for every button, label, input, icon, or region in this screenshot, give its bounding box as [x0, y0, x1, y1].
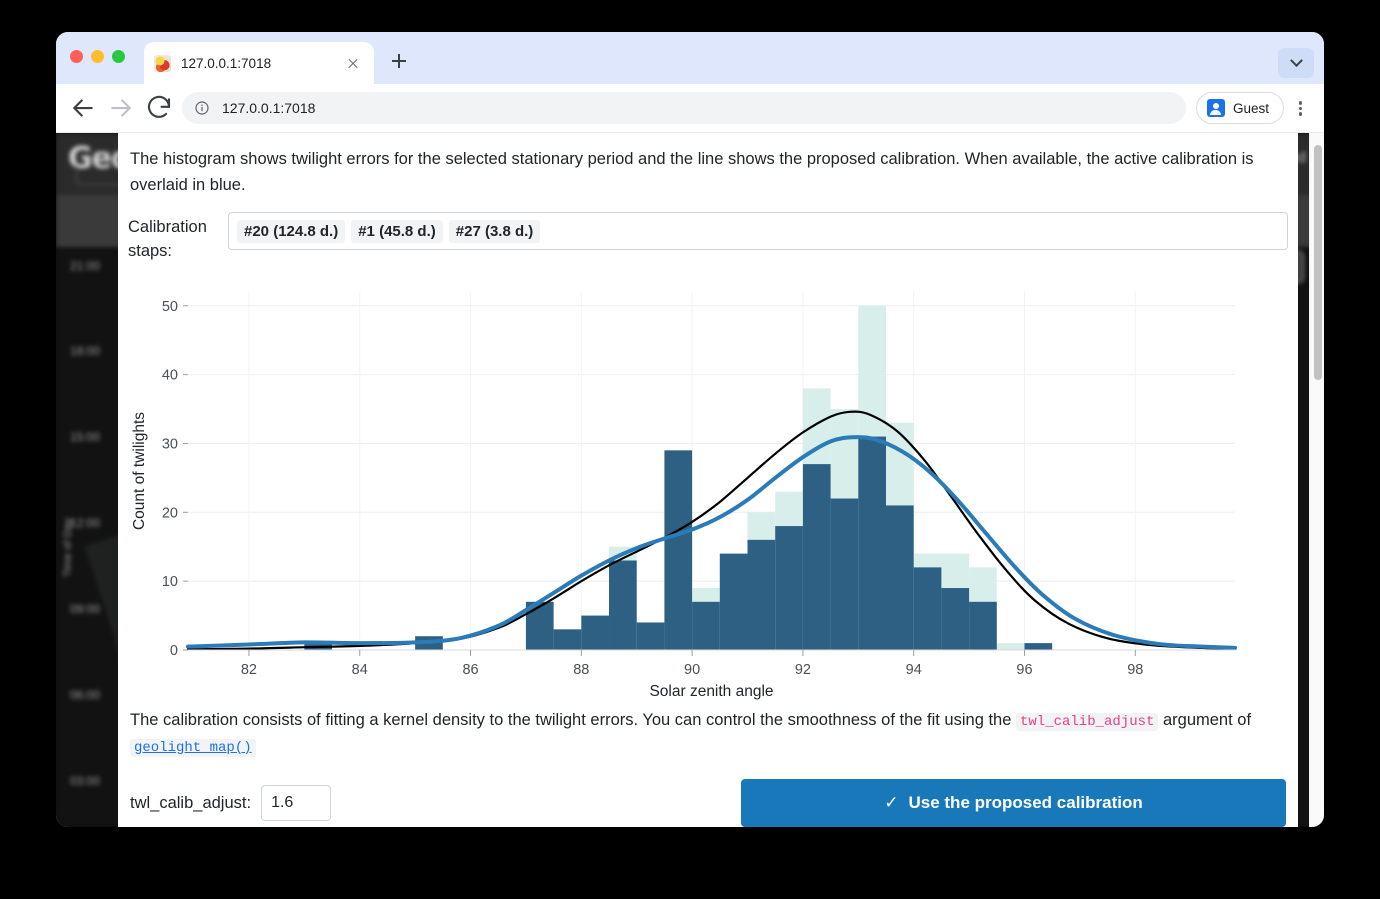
histogram-bar: [997, 643, 1025, 650]
histogram-bar: [858, 437, 886, 650]
y-axis-title: Count of twilights: [131, 412, 148, 530]
forward-arrow-icon[interactable]: [106, 93, 136, 123]
backdrop-y-axis-label: Time of Day: [62, 518, 74, 577]
x-tick-label: 90: [684, 662, 700, 678]
twl-calib-adjust-label: twl_calib_adjust:: [130, 794, 251, 813]
use-proposed-calibration-button[interactable]: ✓ Use the proposed calibration: [741, 779, 1286, 827]
info-circle-icon[interactable]: [194, 100, 210, 116]
x-tick-label: 88: [573, 662, 589, 678]
backdrop-tick: 15:00: [70, 430, 100, 444]
explain-part-2: argument of: [1158, 711, 1251, 729]
browser-toolbar: 127.0.0.1:7018 Guest: [56, 84, 1324, 133]
histogram-bar: [554, 629, 582, 650]
backdrop-tick: 09:00: [70, 602, 100, 616]
address-bar[interactable]: 127.0.0.1:7018: [182, 92, 1186, 124]
x-tick-label: 94: [906, 662, 922, 678]
page-scrollbar-thumb[interactable]: [1314, 145, 1322, 380]
x-tick-label: 84: [352, 662, 368, 678]
y-tick-label: 10: [162, 574, 178, 590]
histogram-bar: [664, 450, 692, 650]
reload-icon[interactable]: [144, 93, 174, 123]
x-tick-label: 86: [462, 662, 478, 678]
histogram-bar: [914, 567, 942, 650]
calibration-steps-label: Calibration staps:: [128, 212, 228, 264]
y-tick-label: 20: [162, 505, 178, 521]
close-tab-icon[interactable]: [342, 52, 364, 74]
page-scrollbar[interactable]: [1309, 133, 1324, 827]
favicon-icon: [154, 55, 171, 72]
y-tick-label: 0: [170, 643, 178, 659]
use-proposed-calibration-label: Use the proposed calibration: [908, 793, 1142, 813]
profile-label: Guest: [1233, 101, 1269, 116]
histogram-svg: 01020304050828486889092949698Solar zenit…: [126, 282, 1241, 702]
calibration-steps-select[interactable]: #20 (124.8 d.) #1 (45.8 d.) #27 (3.8 d.): [228, 212, 1288, 250]
y-tick-label: 40: [162, 368, 178, 384]
histogram-bar: [803, 464, 831, 650]
histogram-bar: [581, 616, 609, 650]
dialog-intro-text: The histogram shows twilight errors for …: [128, 147, 1288, 198]
geolight-map-link[interactable]: geolight_map(): [130, 739, 256, 757]
calibration-step-chip[interactable]: #1 (45.8 d.): [351, 220, 443, 243]
profile-button[interactable]: Guest: [1196, 92, 1284, 124]
histogram-bar: [831, 499, 859, 650]
dialog-controls: twl_calib_adjust: ✓ Use the proposed cal…: [128, 779, 1288, 827]
y-tick-label: 30: [162, 436, 178, 452]
close-window-button[interactable]: [70, 50, 83, 63]
chevron-down-icon[interactable]: [1278, 48, 1314, 78]
minimize-window-button[interactable]: [91, 50, 104, 63]
tab-strip: 127.0.0.1:7018: [56, 32, 1324, 84]
histogram-bar: [609, 560, 637, 650]
backdrop-tick: 21:00: [70, 259, 100, 273]
histogram-bar: [748, 540, 776, 650]
backdrop-tick: 03:00: [70, 774, 100, 788]
backdrop-tick: 06:00: [70, 688, 100, 702]
browser-window: 127.0.0.1:7018 127.0.0.1:7018 Guest: [56, 32, 1324, 827]
check-icon: ✓: [884, 793, 898, 813]
browser-menu-icon[interactable]: [1288, 93, 1312, 123]
back-arrow-icon[interactable]: [68, 93, 98, 123]
twilight-error-histogram: 01020304050828486889092949698Solar zenit…: [126, 282, 1241, 702]
histogram-bar: [886, 505, 914, 650]
y-tick-label: 50: [162, 299, 178, 315]
window-traffic-lights: [70, 50, 125, 63]
histogram-bar: [692, 602, 720, 650]
x-tick-label: 98: [1127, 662, 1143, 678]
calibration-steps-row: Calibration staps: #20 (124.8 d.) #1 (45…: [128, 212, 1288, 264]
x-tick-label: 92: [795, 662, 811, 678]
x-tick-label: 82: [241, 662, 257, 678]
histogram-bar: [969, 602, 997, 650]
x-axis-title: Solar zenith angle: [649, 683, 773, 700]
maximize-window-button[interactable]: [112, 50, 125, 63]
backdrop-tick: 18:00: [70, 344, 100, 358]
guest-avatar-icon: [1207, 99, 1225, 117]
url-text: 127.0.0.1:7018: [222, 100, 315, 116]
twl-calib-adjust-code: twl_calib_adjust: [1016, 713, 1158, 731]
histogram-bar: [775, 526, 803, 650]
histogram-bar: [941, 588, 969, 650]
calibration-step-chip[interactable]: #20 (124.8 d.): [237, 220, 345, 243]
explain-part-1: The calibration consists of fitting a ke…: [130, 711, 1016, 729]
browser-tab[interactable]: 127.0.0.1:7018: [144, 42, 374, 84]
page-viewport: 21:00 18:00 15:00 12:00 09:00 06:00 03:0…: [56, 133, 1324, 827]
calibration-dialog: The histogram shows twilight errors for …: [118, 133, 1298, 827]
backdrop-tick: 12:00: [70, 516, 100, 530]
tab-title: 127.0.0.1:7018: [181, 56, 342, 71]
histogram-bar: [720, 554, 748, 650]
dialog-explain-text: The calibration consists of fitting a ke…: [128, 708, 1288, 759]
histogram-bar: [1024, 643, 1052, 650]
x-tick-label: 96: [1016, 662, 1032, 678]
histogram-bar: [637, 622, 665, 650]
twl-calib-adjust-input[interactable]: [261, 785, 331, 821]
new-tab-button[interactable]: [386, 48, 412, 74]
calibration-step-chip[interactable]: #27 (3.8 d.): [449, 220, 541, 243]
